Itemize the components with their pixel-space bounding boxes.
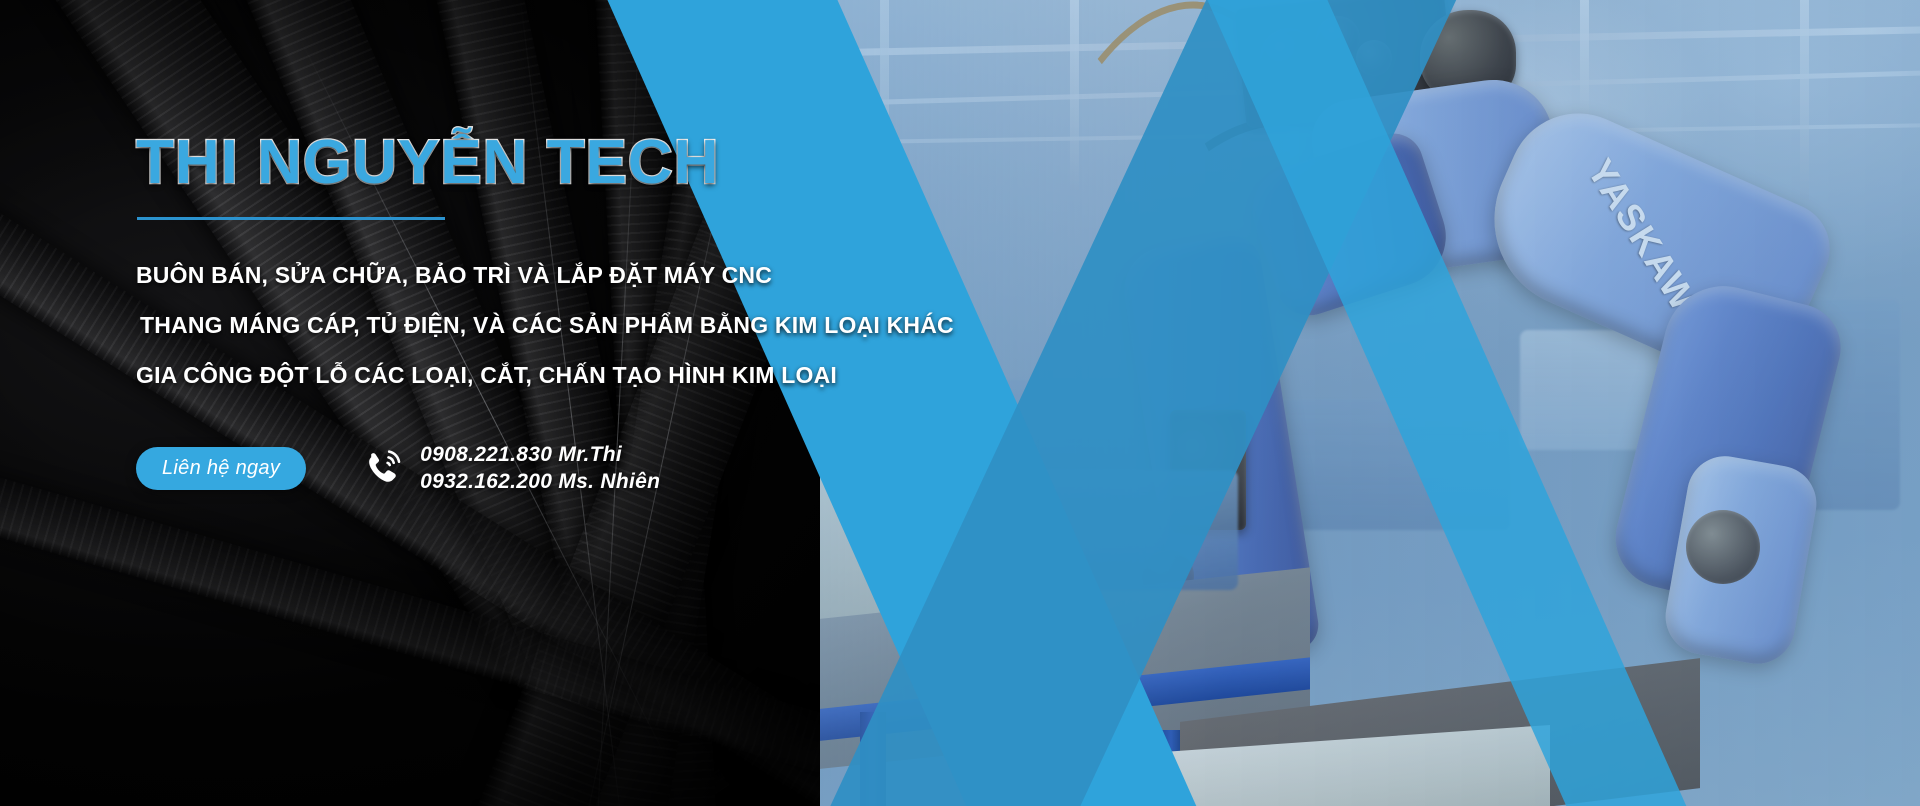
hero-content: THI NGUYỄN TECH BUÔN BÁN, SỬA CHỮA, BẢO …	[136, 130, 976, 496]
phone-contact-block[interactable]: 0908.221.830 Mr.Thi 0932.162.200 Ms. Nhi…	[364, 442, 660, 496]
phone-call-icon	[364, 449, 402, 489]
phone-number-1[interactable]: 0908.221.830 Mr.Thi	[420, 442, 660, 469]
cta-row: Liên hệ ngay 0908.221.830 Mr.Thi 0932.16…	[136, 442, 976, 496]
phone-number-2[interactable]: 0932.162.200 Ms. Nhiên	[420, 469, 660, 496]
contact-now-button[interactable]: Liên hệ ngay	[136, 447, 306, 490]
background-photo-right: YASKAWA	[820, 0, 1920, 806]
tagline-3: GIA CÔNG ĐỘT LỖ CÁC LOẠI, CẮT, CHẤN TẠO …	[136, 364, 976, 387]
hero-banner: YASKAWA THI NGUYỄN TECH	[0, 0, 1920, 806]
tagline-list: BUÔN BÁN, SỬA CHỮA, BẢO TRÌ VÀ LẮP ĐẶT M…	[136, 264, 976, 387]
tagline-1: BUÔN BÁN, SỬA CHỮA, BẢO TRÌ VÀ LẮP ĐẶT M…	[136, 264, 976, 287]
phone-number-list: 0908.221.830 Mr.Thi 0932.162.200 Ms. Nhi…	[420, 442, 660, 496]
title-underline-rule	[137, 217, 445, 220]
brand-title: THI NGUYỄN TECH	[136, 130, 976, 195]
tagline-2: THANG MÁNG CÁP, TỦ ĐIỆN, VÀ CÁC SẢN PHẨM…	[140, 314, 976, 337]
